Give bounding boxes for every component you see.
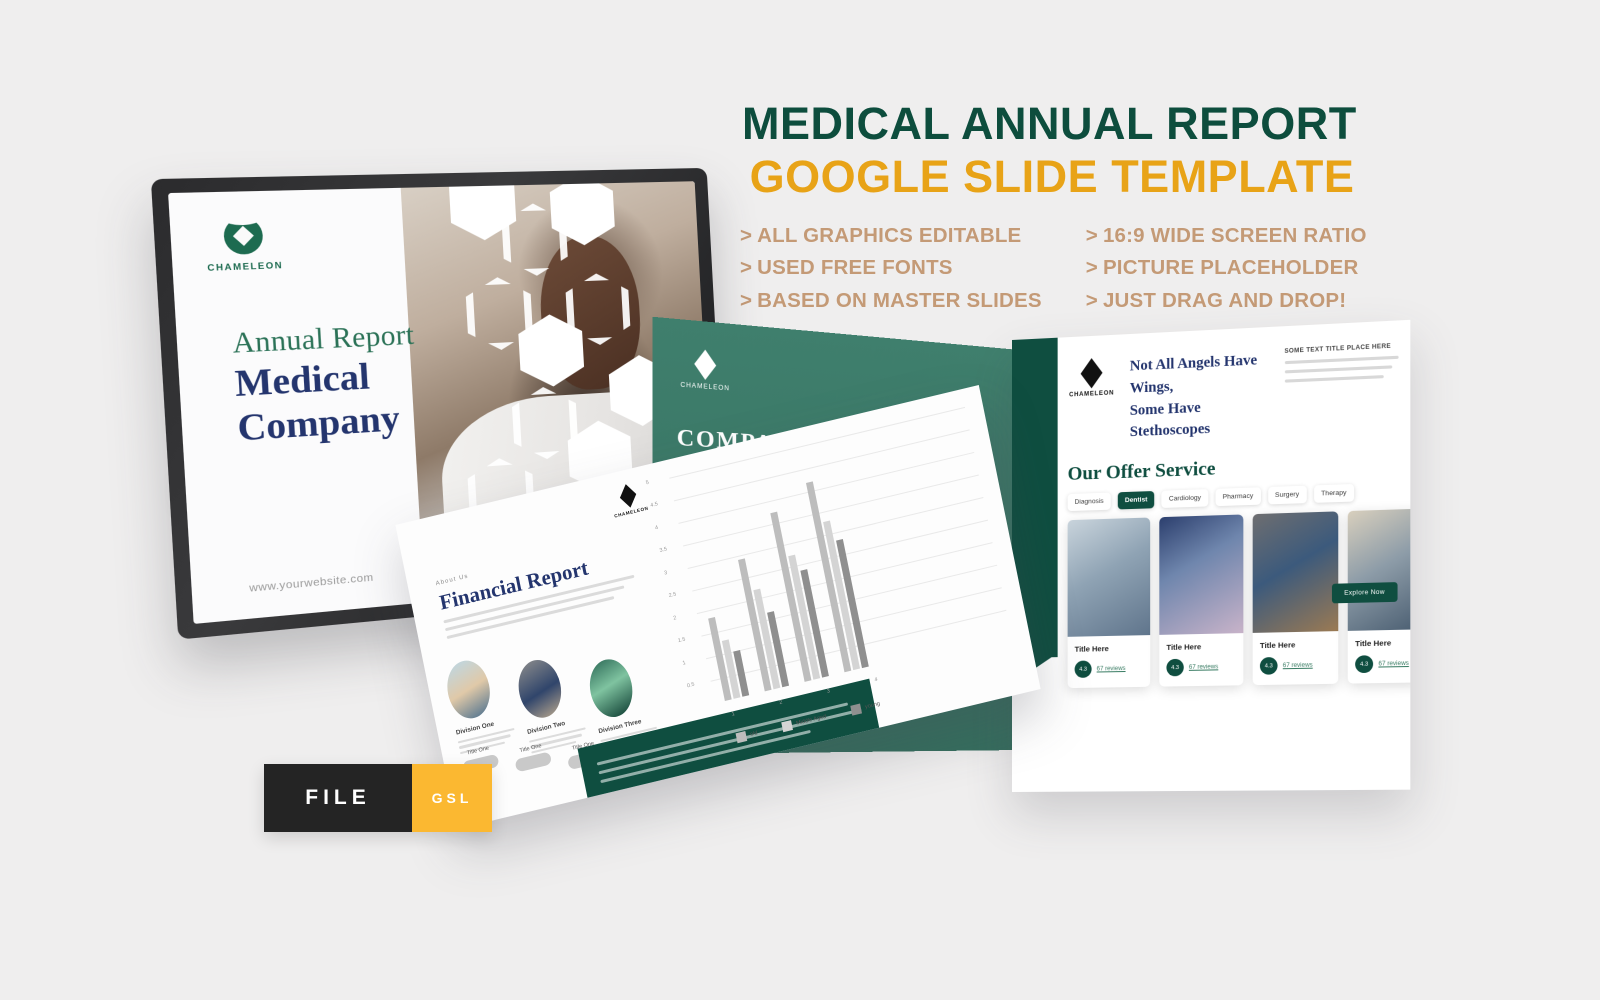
chevron-right-icon: > [740, 224, 752, 247]
chevron-right-icon: > [1086, 224, 1098, 247]
feature-column-right: >16:9 WIDE SCREEN RATIO >PICTURE PLACEHO… [1086, 222, 1367, 314]
slide-quote: Not All Angels Have Wings, Some Have Ste… [1130, 349, 1270, 444]
feature-item: >USED FREE FONTS [740, 254, 1042, 281]
chart-bars [669, 407, 1010, 703]
quote-line2: Some Have Stethoscopes [1130, 394, 1270, 444]
feature-item: >ALL GRAPHICS EDITABLE [740, 222, 1042, 249]
feature-item: >JUST DRAG AND DROP! [1086, 287, 1367, 314]
feature-label: 16:9 WIDE SCREEN RATIO [1103, 224, 1367, 247]
chameleon-logo-icon [1079, 358, 1105, 389]
review-count-link[interactable]: 67 reviews [1097, 665, 1126, 672]
y-axis-tick-label: 4.5 [650, 501, 658, 509]
feature-label: ALL GRAPHICS EDITABLE [757, 224, 1021, 247]
chevron-right-icon: > [740, 256, 752, 279]
feature-label: USED FREE FONTS [757, 256, 953, 279]
title-chip-pill [515, 751, 553, 772]
chevron-right-icon: > [740, 289, 752, 312]
section-title: Our Offer Service [1068, 458, 1216, 486]
slide-header: CHAMELEON Not All Angels Have Wings, Som… [1068, 343, 1400, 447]
card-body: Title Here 4.3 67 reviews [1348, 629, 1411, 684]
y-axis-tick-label: 1.5 [677, 637, 685, 645]
y-axis-tick-label: 3 [664, 570, 668, 577]
slide-title-block: Annual Report Medical Company [232, 314, 512, 449]
page-subtitle: GOOGLE SLIDE TEMPLATE [742, 153, 1362, 202]
feature-label: JUST DRAG AND DROP! [1103, 289, 1346, 312]
division-name: Division One [455, 716, 513, 736]
legend-label: young [865, 701, 881, 710]
chameleon-logo-icon [692, 349, 718, 381]
brand-name: CHAMELEON [1068, 390, 1116, 398]
x-axis-tick-label: 1 [731, 711, 735, 718]
feature-item: >16:9 WIDE SCREEN RATIO [1086, 222, 1367, 249]
card-rating: 4.3 67 reviews [1355, 654, 1410, 673]
rating-badge: 4.3 [1075, 661, 1092, 678]
brand-logo: CHAMELEON [204, 216, 282, 273]
badge-file-label: FILE [264, 764, 412, 832]
page-title: MEDICAL ANNUAL REPORT [742, 100, 1362, 149]
card-title: Title Here [1260, 640, 1331, 651]
text-placeholder-line [1284, 375, 1383, 383]
card-rating: 4.3 67 reviews [1260, 656, 1331, 675]
tab-pharmacy[interactable]: Pharmacy [1215, 487, 1260, 506]
service-card[interactable]: Title Here 4.3 67 reviews [1068, 517, 1151, 688]
rating-badge: 4.3 [1166, 659, 1183, 677]
rating-badge: 4.3 [1260, 657, 1278, 675]
feature-label: BASED ON MASTER SLIDES [757, 289, 1042, 312]
text-placeholder-line [1284, 356, 1398, 364]
headline-block: MEDICAL ANNUAL REPORT GOOGLE SLIDE TEMPL… [742, 100, 1362, 201]
legend-label: old [750, 730, 758, 738]
tab-surgery[interactable]: Surgery [1268, 486, 1307, 505]
y-axis-tick-label: 3.5 [659, 546, 667, 554]
text-placeholder-line [1284, 365, 1392, 373]
card-image [1253, 511, 1339, 633]
x-axis-tick-label: 4 [874, 677, 878, 684]
chevron-right-icon: > [1086, 256, 1098, 279]
brand-logo: CHAMELEON [677, 347, 734, 393]
card-title: Title Here [1166, 641, 1236, 652]
y-axis-tick-label: 1 [682, 660, 686, 667]
review-count-link[interactable]: 67 reviews [1189, 664, 1218, 671]
quote-line1: Not All Angels Have Wings, [1130, 349, 1270, 400]
chevron-right-icon: > [1086, 289, 1098, 312]
y-axis-tick-label: 2.5 [668, 591, 676, 599]
chameleon-logo-icon [223, 217, 264, 255]
card-image [1159, 514, 1243, 634]
card-rating: 4.3 67 reviews [1075, 660, 1143, 678]
card-title: Title Here [1355, 638, 1410, 649]
side-title: SOME TEXT TITLE PLACE HERE [1284, 343, 1399, 355]
card-body: Title Here 4.3 67 reviews [1159, 633, 1243, 687]
y-axis-tick-label: 2 [673, 615, 677, 622]
tab-therapy[interactable]: Therapy [1314, 484, 1354, 503]
offer-service-slide: CHAMELEON Not All Angels Have Wings, Som… [1012, 320, 1410, 792]
y-axis-tick-label: 4 [655, 525, 659, 532]
feature-list: >ALL GRAPHICS EDITABLE >USED FREE FONTS … [740, 222, 1367, 314]
bar-group [708, 613, 749, 701]
card-rating: 4.3 67 reviews [1166, 658, 1236, 677]
card-image [1068, 517, 1151, 636]
slide-side-text: SOME TEXT TITLE PLACE HERE [1284, 343, 1399, 438]
x-axis-tick-label: 3 [826, 688, 830, 695]
review-count-link[interactable]: 67 reviews [1378, 660, 1409, 667]
rating-badge: 4.3 [1355, 655, 1373, 673]
brand-name: CHAMELEON [677, 382, 734, 393]
poster-canvas: MEDICAL ANNUAL REPORT GOOGLE SLIDE TEMPL… [0, 0, 1600, 1000]
y-axis-tick-label: 0.5 [687, 682, 695, 690]
service-card[interactable]: Title Here 4.3 67 reviews [1159, 514, 1243, 686]
review-count-link[interactable]: 67 reviews [1283, 662, 1313, 669]
bar-group [738, 554, 789, 692]
feature-item: >PICTURE PLACEHOLDER [1086, 254, 1367, 281]
feature-label: PICTURE PLACEHOLDER [1103, 256, 1359, 279]
card-title: Title Here [1075, 643, 1143, 653]
tab-dentist[interactable]: Dentist [1118, 491, 1155, 509]
brand-logo: CHAMELEON [1068, 357, 1116, 447]
card-body: Title Here 4.3 67 reviews [1068, 635, 1151, 688]
division-image [514, 656, 566, 723]
explore-now-button[interactable]: Explore Now [1332, 582, 1398, 603]
badge-format-label: GSL [412, 764, 492, 832]
service-tabs: Diagnosis Dentist Cardiology Pharmacy Su… [1068, 484, 1354, 511]
chameleon-logo-icon [616, 482, 640, 510]
feature-item: >BASED ON MASTER SLIDES [740, 287, 1042, 314]
tab-diagnosis[interactable]: Diagnosis [1068, 493, 1111, 512]
division-image [442, 656, 494, 723]
title-chip: Title One [513, 742, 555, 783]
tab-cardiology[interactable]: Cardiology [1162, 489, 1209, 508]
service-card[interactable]: Title Here 4.3 67 reviews [1253, 511, 1339, 685]
financial-bar-chart: 54.543.532.521.510.5 oldMiddle Agedyoung… [644, 407, 1016, 735]
card-body: Title Here 4.3 67 reviews [1253, 631, 1339, 685]
card-image [1348, 508, 1411, 631]
feature-column-left: >ALL GRAPHICS EDITABLE >USED FREE FONTS … [740, 222, 1042, 314]
division-image [585, 655, 637, 722]
file-format-badge: FILE GSL [264, 764, 492, 832]
x-axis-tick-label: 2 [779, 700, 783, 707]
